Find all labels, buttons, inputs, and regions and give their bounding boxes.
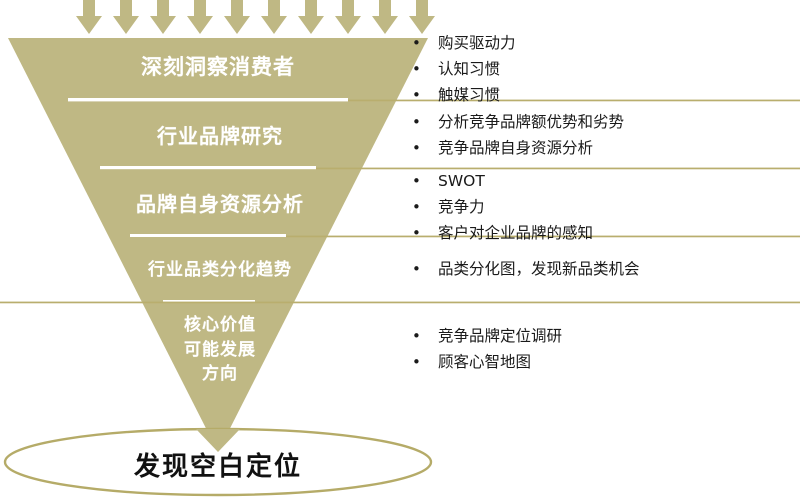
bullet-item: • 竞争品牌自身资源分析 [412, 141, 792, 157]
input-arrow [113, 0, 139, 34]
bullet-dot-icon: • [412, 141, 438, 157]
bullet-item: • SWOT [412, 174, 792, 190]
input-arrow [298, 0, 324, 34]
input-arrows [76, 0, 435, 34]
bullet-dot-icon: • [412, 174, 438, 190]
bullet-dot-icon: • [412, 88, 438, 104]
bullet-group-2: • 分析竞争品牌额优势和劣势 • 竞争品牌自身资源分析 [412, 115, 792, 167]
bullet-dot-icon: • [412, 115, 438, 131]
bullet-text: 顾客心智地图 [438, 355, 792, 371]
bullet-group-5: • 竞争品牌定位调研 • 顾客心智地图 [412, 329, 792, 381]
bullet-item: • 顾客心智地图 [412, 355, 792, 371]
outcome-label: 发现空白定位 [5, 446, 431, 483]
bullet-dot-icon: • [412, 329, 438, 345]
input-arrow [335, 0, 361, 34]
bullet-text: 品类分化图，发现新品类机会 [438, 262, 792, 278]
bullet-dot-icon: • [412, 36, 438, 52]
bullet-text: 竞争品牌定位调研 [438, 329, 792, 345]
bullet-dot-icon: • [412, 62, 438, 78]
funnel-body [8, 38, 428, 452]
bullet-text: 竞争力 [438, 200, 792, 216]
bullet-item: • 品类分化图，发现新品类机会 [412, 262, 792, 278]
input-arrow [150, 0, 176, 34]
bullet-item: • 竞争品牌定位调研 [412, 329, 792, 345]
bullet-text: 触媒习惯 [438, 88, 792, 104]
bullet-item: • 购买驱动力 [412, 36, 792, 52]
input-arrow [187, 0, 213, 34]
input-arrow [409, 0, 435, 34]
input-arrow [261, 0, 287, 34]
bullet-group-1: • 购买驱动力 • 认知习惯 • 触媒习惯 [412, 36, 792, 113]
bullet-item: • 认知习惯 [412, 62, 792, 78]
bullet-text: 认知习惯 [438, 62, 792, 78]
funnel-stage-label-3: 品牌自身资源分析 [55, 193, 385, 216]
bullet-group-4: • 品类分化图，发现新品类机会 [412, 262, 792, 288]
bullet-item: • 客户对企业品牌的感知 [412, 226, 792, 242]
funnel-stage-label-5: 核心价值 可能发展 方向 [110, 313, 330, 387]
bullet-item: • 竞争力 [412, 200, 792, 216]
bullet-dot-icon: • [412, 262, 438, 278]
funnel-stage-label-2: 行业品牌研究 [40, 125, 400, 148]
funnel-diagram-canvas: 深刻洞察消费者 行业品牌研究 品牌自身资源分析 行业品类分化趋势 核心价值 可能… [0, 0, 800, 503]
bullet-item: • 触媒习惯 [412, 88, 792, 104]
bullet-group-3: • SWOT • 竞争力 • 客户对企业品牌的感知 [412, 174, 792, 251]
bullet-text: SWOT [438, 174, 792, 190]
input-arrow [76, 0, 102, 34]
input-arrow [224, 0, 250, 34]
bullet-item: • 分析竞争品牌额优势和劣势 [412, 115, 792, 131]
bullet-text: 分析竞争品牌额优势和劣势 [438, 115, 792, 131]
bullet-dot-icon: • [412, 226, 438, 242]
funnel-stage-label-1: 深刻洞察消费者 [8, 55, 428, 79]
bullet-text: 购买驱动力 [438, 36, 792, 52]
bullet-text: 竞争品牌自身资源分析 [438, 141, 792, 157]
bullet-text: 客户对企业品牌的感知 [438, 226, 792, 242]
bullet-dot-icon: • [412, 200, 438, 216]
input-arrow [372, 0, 398, 34]
funnel-stage-label-4: 行业品类分化趋势 [80, 261, 360, 281]
bullet-dot-icon: • [412, 355, 438, 371]
